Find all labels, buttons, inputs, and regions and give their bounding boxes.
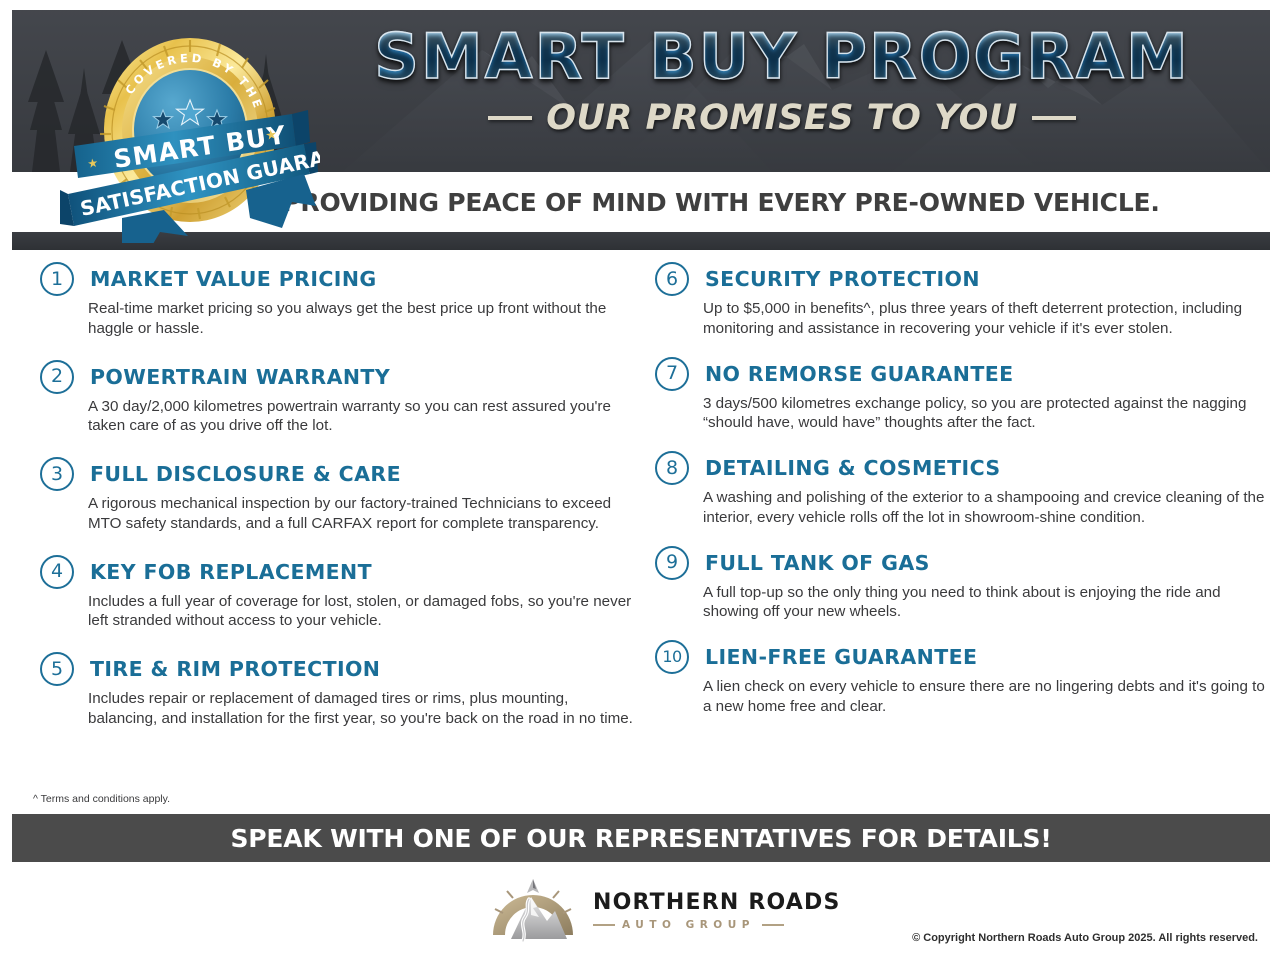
promise-number-badge: 1 <box>40 262 74 296</box>
promise-body: Includes a full year of coverage for los… <box>88 592 640 632</box>
promise-item: 2POWERTRAIN WARRANTYA 30 day/2,000 kilom… <box>40 360 640 437</box>
promise-title: LIEN-FREE GUARANTEE <box>705 645 977 669</box>
header-title-block: SMART BUY PROGRAM OUR PROMISES TO YOU <box>312 26 1252 138</box>
logo-text-block: NORTHERN ROADS AUTO GROUP <box>593 892 841 931</box>
flyer-page: SMART BUY PROGRAM OUR PROMISES TO YOU <box>0 0 1280 960</box>
promise-body: A rigorous mechanical inspection by our … <box>88 494 640 534</box>
promise-number-badge: 9 <box>655 546 689 580</box>
promise-item: 5TIRE & RIM PROTECTIONIncludes repair or… <box>40 652 640 729</box>
promise-item: 4KEY FOB REPLACEMENTIncludes a full year… <box>40 555 640 632</box>
logo-rule-right-icon <box>762 924 784 926</box>
promise-item-header: 10LIEN-FREE GUARANTEE <box>655 640 1265 674</box>
promise-body: A washing and polishing of the exterior … <box>703 488 1265 528</box>
page-subtitle: OUR PROMISES TO YOU <box>546 98 1018 138</box>
promise-title: FULL TANK OF GAS <box>705 551 930 575</box>
dash-right-icon <box>1032 116 1076 120</box>
promise-item-header: 1MARKET VALUE PRICING <box>40 262 640 296</box>
promise-title: POWERTRAIN WARRANTY <box>90 365 390 389</box>
promise-body: A 30 day/2,000 kilometres powertrain war… <box>88 397 640 437</box>
promise-item-header: 8DETAILING & COSMETICS <box>655 451 1265 485</box>
logo-name: NORTHERN ROADS <box>593 892 841 914</box>
promise-item-header: 4KEY FOB REPLACEMENT <box>40 555 640 589</box>
promise-item: 6SECURITY PROTECTIONUp to $5,000 in bene… <box>655 262 1265 339</box>
promise-item: 10LIEN-FREE GUARANTEEA lien check on eve… <box>655 640 1265 717</box>
promise-body: 3 days/500 kilometres exchange policy, s… <box>703 394 1265 434</box>
promise-item: 8DETAILING & COSMETICSA washing and poli… <box>655 451 1265 528</box>
page-title: SMART BUY PROGRAM <box>312 26 1252 88</box>
promise-number-badge: 8 <box>655 451 689 485</box>
promise-body: Includes repair or replacement of damage… <box>88 689 640 729</box>
promise-item-header: 3FULL DISCLOSURE & CARE <box>40 457 640 491</box>
badge-seal-icon: COVERED BY THE ★ SMART BUY ★ S <box>60 18 320 243</box>
promise-body: A lien check on every vehicle to ensure … <box>703 677 1265 717</box>
terms-footnote: ^ Terms and conditions apply. <box>33 793 170 805</box>
promise-title: SECURITY PROTECTION <box>705 267 980 291</box>
promise-number-badge: 3 <box>40 457 74 491</box>
promise-number-badge: 6 <box>655 262 689 296</box>
cta-banner[interactable]: SPEAK WITH ONE OF OUR REPRESENTATIVES FO… <box>12 814 1270 862</box>
promise-item: 1MARKET VALUE PRICINGReal-time market pr… <box>40 262 640 339</box>
promise-body: A full top-up so the only thing you need… <box>703 583 1265 623</box>
promise-item-header: 6SECURITY PROTECTION <box>655 262 1265 296</box>
promise-number-badge: 10 <box>655 640 689 674</box>
northern-roads-emblem-icon <box>487 877 579 945</box>
promise-number-badge: 5 <box>40 652 74 686</box>
promise-body: Real-time market pricing so you always g… <box>88 299 640 339</box>
promise-item: 9FULL TANK OF GASA full top-up so the on… <box>655 546 1265 623</box>
svg-text:★: ★ <box>86 156 99 171</box>
promise-title: TIRE & RIM PROTECTION <box>90 657 380 681</box>
promise-number-badge: 2 <box>40 360 74 394</box>
promise-title: FULL DISCLOSURE & CARE <box>90 462 401 486</box>
copyright-text: © Copyright Northern Roads Auto Group 20… <box>912 932 1258 944</box>
promise-number-badge: 4 <box>40 555 74 589</box>
dash-left-icon <box>488 116 532 120</box>
promise-body: Up to $5,000 in benefits^, plus three ye… <box>703 299 1265 339</box>
promise-title: MARKET VALUE PRICING <box>90 267 377 291</box>
promises-column-left: 1MARKET VALUE PRICINGReal-time market pr… <box>40 262 640 750</box>
promises-column-right: 6SECURITY PROTECTIONUp to $5,000 in bene… <box>655 262 1265 735</box>
smart-buy-badge: COVERED BY THE ★ SMART BUY ★ S <box>60 18 320 243</box>
promise-item-header: 5TIRE & RIM PROTECTION <box>40 652 640 686</box>
logo-subtitle-row: AUTO GROUP <box>593 920 841 931</box>
promise-item-header: 9FULL TANK OF GAS <box>655 546 1265 580</box>
cta-text: SPEAK WITH ONE OF OUR REPRESENTATIVES FO… <box>230 824 1051 853</box>
logo-subtitle: AUTO GROUP <box>622 920 755 931</box>
header-subtitle-row: OUR PROMISES TO YOU <box>312 98 1252 138</box>
promise-number-badge: 7 <box>655 357 689 391</box>
promise-item: 3FULL DISCLOSURE & CAREA rigorous mechan… <box>40 457 640 534</box>
footer-logo: NORTHERN ROADS AUTO GROUP <box>487 877 841 945</box>
promise-title: KEY FOB REPLACEMENT <box>90 560 372 584</box>
promise-item: 7NO REMORSE GUARANTEE3 days/500 kilometr… <box>655 357 1265 434</box>
promise-item-header: 7NO REMORSE GUARANTEE <box>655 357 1265 391</box>
logo-rule-left-icon <box>593 924 615 926</box>
svg-text:★: ★ <box>264 127 278 144</box>
promise-item-header: 2POWERTRAIN WARRANTY <box>40 360 640 394</box>
promise-title: NO REMORSE GUARANTEE <box>705 362 1014 386</box>
promise-title: DETAILING & COSMETICS <box>705 456 1001 480</box>
